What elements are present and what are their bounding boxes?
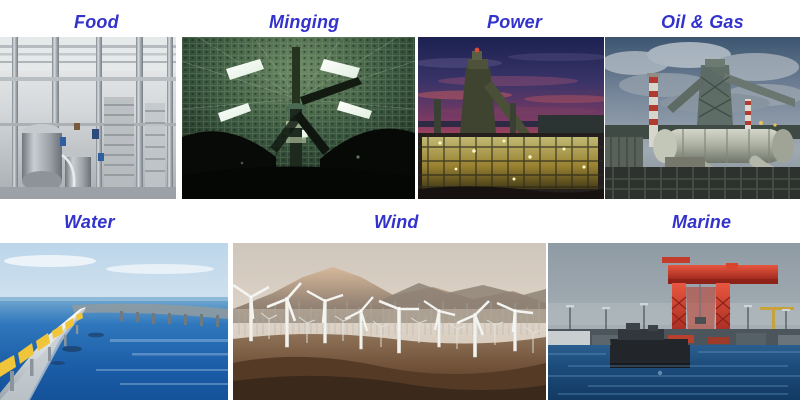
mining-dome-interior-photo [182, 37, 415, 199]
category-label-minging: Minging [269, 12, 339, 32]
food-processing-plant-photo [0, 37, 176, 199]
category-label-food: Food [74, 12, 119, 32]
wind-farm-desert-photo [233, 243, 546, 400]
oil-gas-refinery-photo [605, 37, 800, 199]
water-pipeline-sea-photo [0, 243, 228, 400]
category-label-power: Power [487, 12, 542, 32]
category-label-wind: Wind [374, 212, 419, 232]
industry-application-gallery: Food Minging Power Oil & Gas [0, 0, 800, 400]
power-plant-dusk-photo [418, 37, 604, 199]
category-label-water: Water [64, 212, 115, 232]
category-label-marine: Marine [672, 212, 731, 232]
marine-shipyard-crane-photo [548, 243, 800, 400]
category-label-oil-and-gas: Oil & Gas [661, 12, 744, 32]
